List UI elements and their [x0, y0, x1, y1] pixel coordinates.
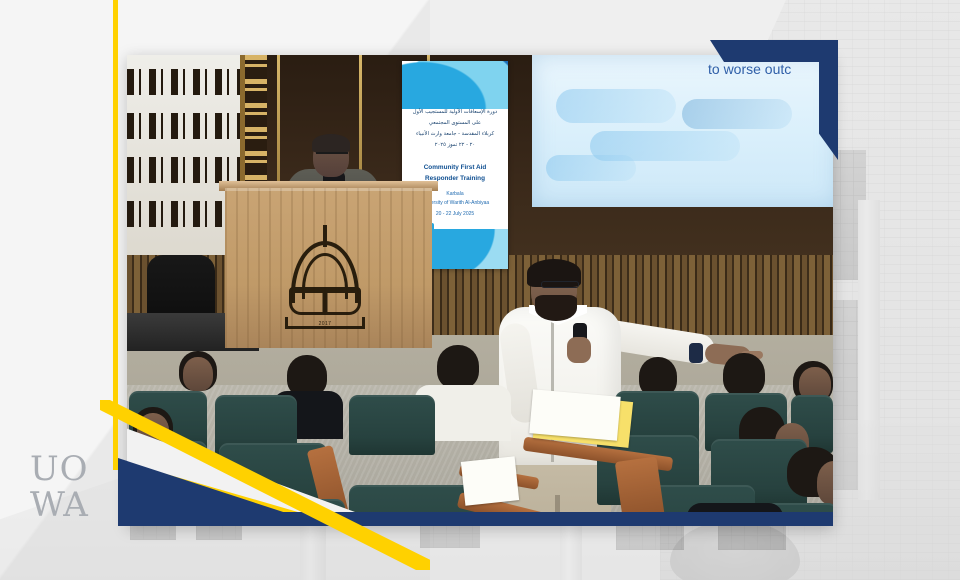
- auditorium-seat: [349, 395, 435, 455]
- calligraphy-band: [127, 113, 240, 139]
- shrub: [670, 520, 800, 580]
- presenter-beard: [535, 295, 577, 321]
- banner-swoosh-top: [402, 61, 508, 109]
- calligraphy-band: [127, 69, 240, 95]
- banner-title-line-1: Community First Aid: [408, 163, 502, 172]
- yellow-vertical-rule: [113, 0, 118, 470]
- logo-line-2: WA: [30, 488, 89, 522]
- poster-canvas: to worse outc دورة الإسعافات الأولية للم…: [0, 0, 960, 580]
- handout-paper: [461, 456, 519, 505]
- audience-head: [437, 345, 479, 389]
- handout-paper: [529, 389, 621, 441]
- presenter-left-hand: [567, 337, 591, 363]
- eyeglasses-icon: [316, 152, 348, 158]
- emblem-year: 2017: [275, 321, 375, 327]
- slide-text: to worse outc: [708, 61, 791, 77]
- university-emblem: 2017: [275, 225, 375, 333]
- navy-corner-accent-top: [710, 40, 835, 62]
- uowa-logo: UO WA: [30, 452, 89, 522]
- event-photo: to worse outc دورة الإسعافات الأولية للم…: [127, 55, 833, 526]
- audience-head: [183, 357, 213, 391]
- eyeglasses-icon: [541, 281, 579, 288]
- banner-arabic-line-4: ٢٠ - ٢٢ تموز ٢٠٢٥: [408, 140, 502, 151]
- wristwatch: [689, 343, 703, 363]
- banner-arabic-line-2: على المستوى المجتمعي: [408, 118, 502, 129]
- calligraphy-band: [127, 201, 240, 227]
- audience-head: [723, 353, 765, 397]
- calligraphy-band: [127, 157, 240, 183]
- banner-arabic-line-1: دورة الإسعافات الأولية للمستجيب الأول: [408, 107, 502, 118]
- slide-graphic: [682, 99, 792, 129]
- seated-official-hair: [312, 134, 350, 153]
- logo-line-1: UO: [30, 452, 89, 486]
- emblem-open-book: [289, 287, 361, 315]
- slide-graphic: [556, 89, 676, 123]
- pillar: [858, 200, 880, 500]
- banner-arabic-line-3: كربلاء المقدسة - جامعة وارث الأنبياء: [408, 129, 502, 140]
- slide-graphic: [546, 155, 636, 181]
- projector-screen: to worse outc: [532, 55, 833, 207]
